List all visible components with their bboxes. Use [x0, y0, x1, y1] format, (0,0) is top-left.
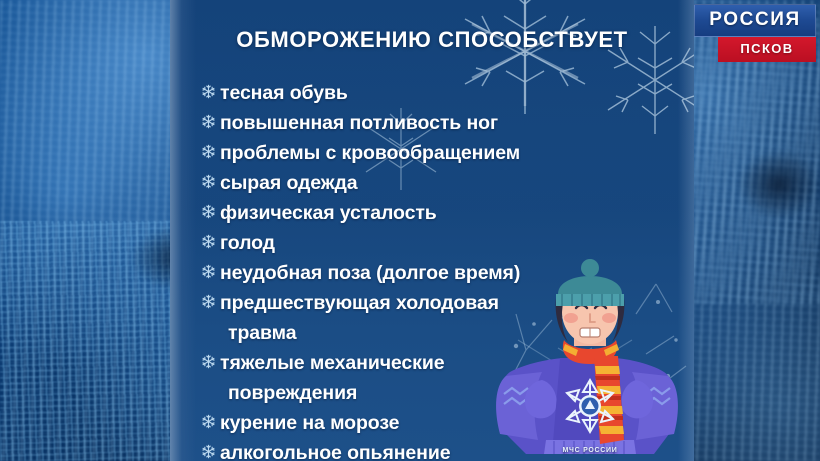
agency-label: МЧС РОССИИ — [486, 447, 694, 454]
list-item-label: сырая одежда — [220, 169, 358, 198]
list-item: проблемы с кровообращением — [196, 139, 686, 169]
snowflake-icon — [196, 289, 220, 309]
broadcast-screenshot: ОБМОРОЖЕНИЮ СПОСОБСТВУЕТ тесная обувь по… — [0, 0, 820, 461]
list-item-label: тесная обувь — [220, 79, 348, 108]
channel-name-text: РОССИЯ — [709, 9, 801, 30]
list-item-label: алкогольное опьянение — [220, 439, 450, 461]
region-name-text: ПСКОВ — [740, 41, 793, 56]
snowflake-icon — [196, 139, 220, 159]
list-item-label: тяжелые механические — [220, 349, 444, 378]
panel-left-edge-gradient — [170, 0, 196, 461]
snowflake-icon — [196, 349, 220, 369]
snowflake-icon — [196, 439, 220, 459]
shivering-person-illustration: МЧС РОССИИ — [486, 254, 694, 461]
list-item-label: повреждения — [220, 379, 357, 408]
list-item-label: неудобная поза (долгое время) — [220, 259, 520, 288]
snowflake-icon — [196, 199, 220, 219]
page-title: ОБМОРОЖЕНИЮ СПОСОБСТВУЕТ — [170, 27, 694, 53]
list-item: физическая усталость — [196, 199, 686, 229]
list-item-label: проблемы с кровообращением — [220, 139, 520, 168]
snowflake-icon — [196, 409, 220, 429]
list-item-label: повышенная потливость ног — [220, 109, 498, 138]
list-item: повышенная потливость ног — [196, 109, 686, 139]
list-item-label: предшествующая холодовая — [220, 289, 499, 318]
list-item-label: физическая усталость — [220, 199, 437, 228]
channel-name-bar: РОССИЯ — [694, 4, 816, 37]
list-item-label: курение на морозе — [220, 409, 399, 438]
region-name-bar: ПСКОВ — [718, 37, 816, 62]
snowflake-icon — [196, 259, 220, 279]
snowflake-icon — [196, 169, 220, 189]
channel-logo: РОССИЯ ПСКОВ — [694, 4, 816, 62]
list-item-label: голод — [220, 229, 275, 258]
list-item: сырая одежда — [196, 169, 686, 199]
snowflake-icon — [196, 109, 220, 129]
snowflake-icon — [196, 79, 220, 99]
list-item: тесная обувь — [196, 79, 686, 109]
snowflake-icon — [196, 229, 220, 249]
list-item-label: травма — [220, 319, 296, 348]
